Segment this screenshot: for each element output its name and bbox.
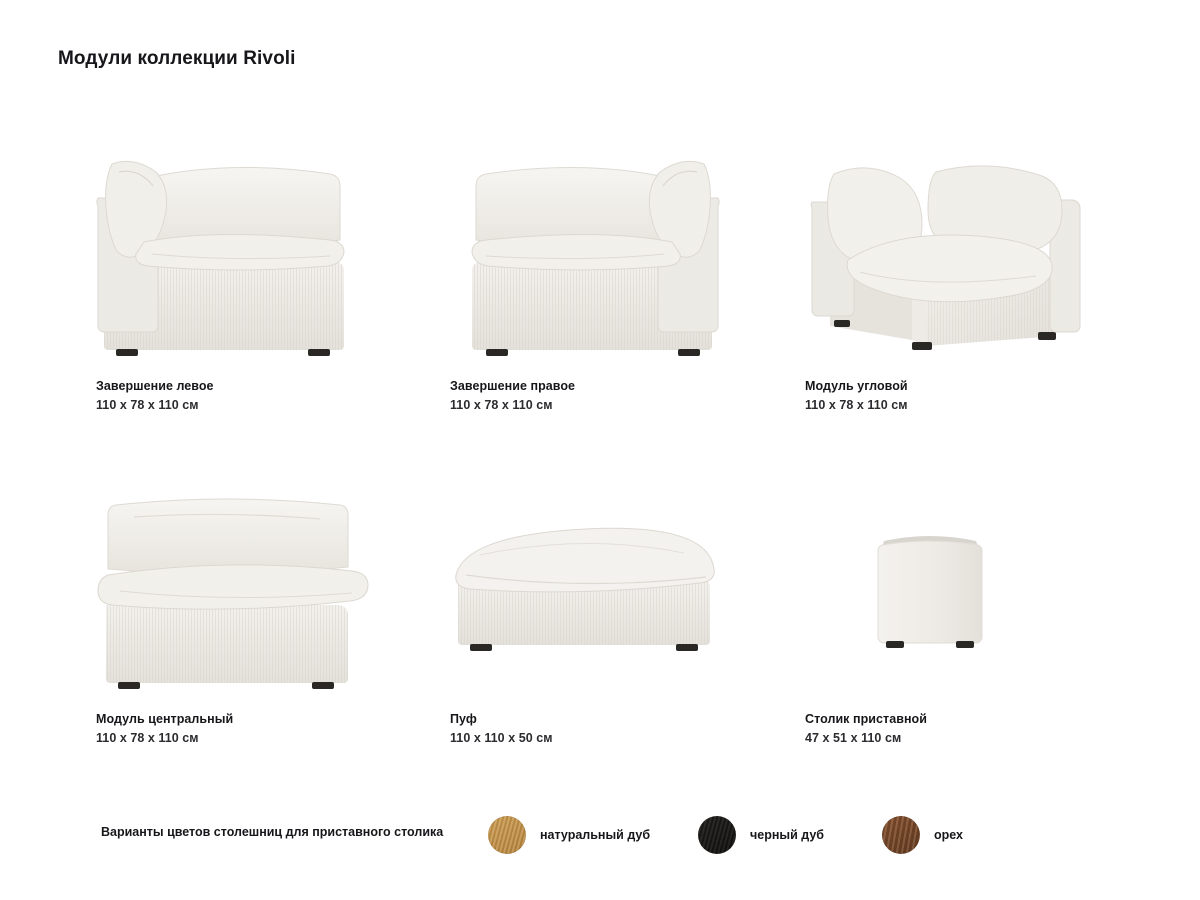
swatch-black-oak-chip[interactable] <box>698 816 736 854</box>
swatch-black-oak[interactable]: черный дуб <box>698 816 824 854</box>
module-dimensions: 47 x 51 x 110 см <box>805 730 1115 747</box>
module-caption: Пуф 110 x 110 x 50 см <box>450 711 760 747</box>
swatch-walnut[interactable]: орех <box>882 816 963 854</box>
swatch-walnut-label: орех <box>934 828 963 842</box>
sofa-corner-icon <box>767 140 1112 365</box>
module-caption: Завершение правое 110 x 78 x 110 см <box>450 378 760 414</box>
sofa-left-end-icon <box>58 140 403 365</box>
modules-grid: Завершение левое 110 x 78 x 110 см <box>0 140 1200 806</box>
side-table-icon <box>767 473 1112 698</box>
sofa-center-icon <box>58 473 403 698</box>
module-caption: Модуль центральный 110 x 78 x 110 см <box>96 711 406 747</box>
catalog-page: Модули коллекции Rivoli <box>0 0 1200 900</box>
swatch-black-oak-label: черный дуб <box>750 828 824 842</box>
sofa-right-end-icon <box>412 140 757 365</box>
module-name: Пуф <box>450 711 760 728</box>
module-card-ottoman[interactable]: Пуф 110 x 110 x 50 см <box>412 473 767 806</box>
page-title: Модули коллекции Rivoli <box>58 48 296 70</box>
modules-row-1: Завершение левое 110 x 78 x 110 см <box>0 140 1200 473</box>
module-card-left-end[interactable]: Завершение левое 110 x 78 x 110 см <box>58 140 413 473</box>
swatch-walnut-chip[interactable] <box>882 816 920 854</box>
module-dimensions: 110 x 78 x 110 см <box>96 730 406 747</box>
modules-row-2: Модуль центральный 110 x 78 x 110 см <box>0 473 1200 806</box>
swatch-natural-oak-chip[interactable] <box>488 816 526 854</box>
module-name: Завершение правое <box>450 378 760 395</box>
module-name: Столик приставной <box>805 711 1115 728</box>
module-name: Завершение левое <box>96 378 406 395</box>
legend-label: Варианты цветов столешниц для приставног… <box>101 825 443 839</box>
module-name: Модуль угловой <box>805 378 1115 395</box>
module-caption: Модуль угловой 110 x 78 x 110 см <box>805 378 1115 414</box>
module-card-side-table[interactable]: Столик приставной 47 x 51 x 110 см <box>767 473 1122 806</box>
swatch-natural-oak-label: натуральный дуб <box>540 828 650 842</box>
module-dimensions: 110 x 78 x 110 см <box>96 397 406 414</box>
module-card-corner[interactable]: Модуль угловой 110 x 78 x 110 см <box>767 140 1122 473</box>
module-name: Модуль центральный <box>96 711 406 728</box>
module-card-right-end[interactable]: Завершение правое 110 x 78 x 110 см <box>412 140 767 473</box>
module-caption: Столик приставной 47 x 51 x 110 см <box>805 711 1115 747</box>
ottoman-icon <box>412 473 757 698</box>
module-dimensions: 110 x 78 x 110 см <box>805 397 1115 414</box>
swatch-natural-oak[interactable]: натуральный дуб <box>488 816 650 854</box>
module-caption: Завершение левое 110 x 78 x 110 см <box>96 378 406 414</box>
module-dimensions: 110 x 110 x 50 см <box>450 730 760 747</box>
tabletop-color-legend: Варианты цветов столешниц для приставног… <box>0 805 1200 865</box>
module-card-center[interactable]: Модуль центральный 110 x 78 x 110 см <box>58 473 413 806</box>
module-dimensions: 110 x 78 x 110 см <box>450 397 760 414</box>
